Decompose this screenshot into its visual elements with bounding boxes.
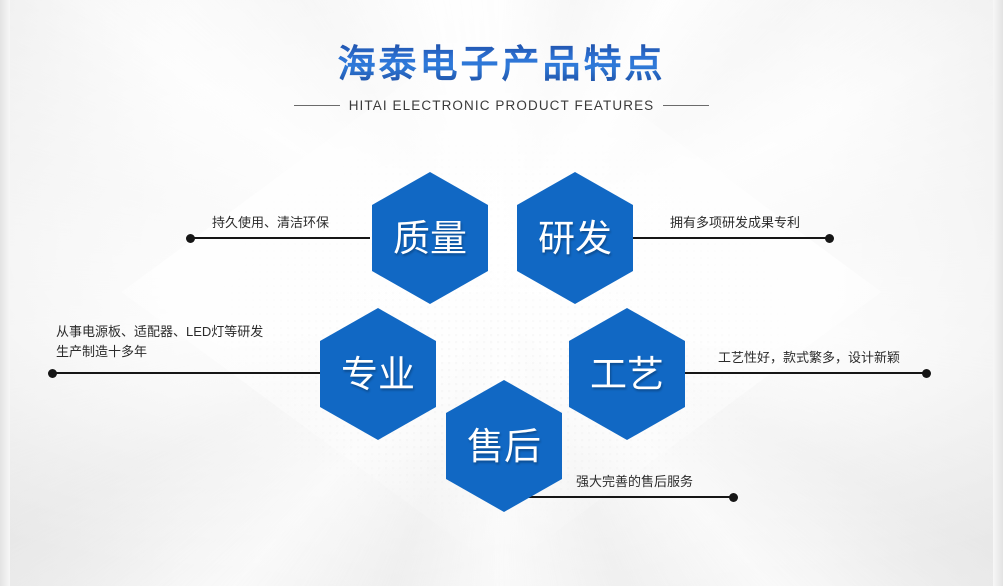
subtitle-rule-left <box>294 105 340 106</box>
hexagon-label-professional: 专业 <box>341 356 415 393</box>
connector-line-professional <box>52 372 322 374</box>
hexagon-label-craftsmanship: 工艺 <box>590 356 664 393</box>
product-features-banner: 海泰电子产品特点 HITAI ELECTRONIC PRODUCT FEATUR… <box>0 0 1003 586</box>
caption-craftsmanship: 工艺性好，款式繁多，设计新颖 <box>718 348 900 368</box>
connector-dot-quality <box>186 234 195 243</box>
caption-professional-line1: 从事电源板、适配器、LED灯等研发 <box>56 322 316 342</box>
page-subtitle: HITAI ELECTRONIC PRODUCT FEATURES <box>349 98 655 113</box>
page-title: 海泰电子产品特点 <box>0 42 1003 86</box>
caption-after-sales: 强大完善的售后服务 <box>576 472 693 492</box>
caption-professional: 从事电源板、适配器、LED灯等研发 生产制造十多年 <box>56 322 316 362</box>
caption-quality: 持久使用、清洁环保 <box>212 213 329 233</box>
banner-header: 海泰电子产品特点 HITAI ELECTRONIC PRODUCT FEATUR… <box>0 42 1003 113</box>
subtitle-rule-right <box>663 105 709 106</box>
connector-line-research-development <box>633 237 831 239</box>
hexagon-label-research-development: 研发 <box>538 220 612 257</box>
connector-dot-research-development <box>825 234 834 243</box>
connector-dot-craftsmanship <box>922 369 931 378</box>
subtitle-row: HITAI ELECTRONIC PRODUCT FEATURES <box>0 98 1003 113</box>
connector-dot-professional <box>48 369 57 378</box>
caption-research-development: 拥有多项研发成果专利 <box>670 213 800 233</box>
connector-line-craftsmanship <box>685 372 930 374</box>
hexagon-label-quality: 质量 <box>393 220 467 257</box>
connector-dot-after-sales <box>729 493 738 502</box>
hexagon-label-after-sales: 售后 <box>467 428 541 465</box>
connector-line-after-sales <box>500 496 735 498</box>
caption-professional-line2: 生产制造十多年 <box>56 342 316 362</box>
connector-line-quality <box>190 237 370 239</box>
